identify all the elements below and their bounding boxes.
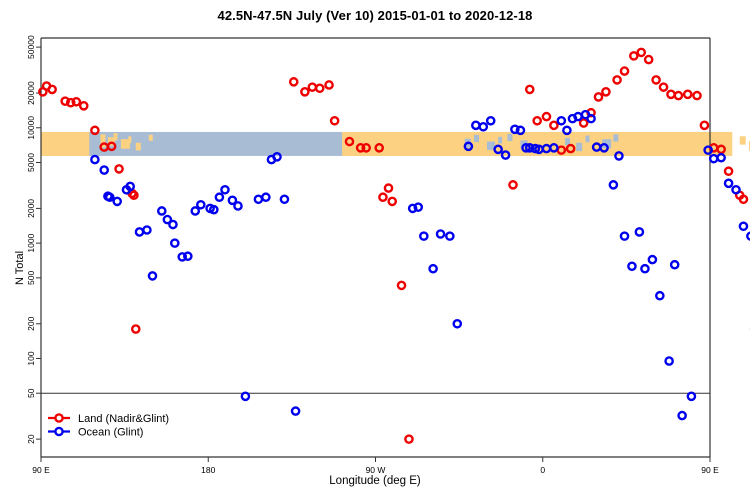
data-point bbox=[91, 127, 98, 134]
band-land-0 bbox=[41, 132, 89, 156]
data-point bbox=[732, 186, 739, 193]
data-point bbox=[234, 202, 241, 209]
band-speckle-10 bbox=[498, 137, 502, 144]
data-point bbox=[197, 201, 204, 208]
y-tick-label-20000: 20000 bbox=[26, 81, 36, 105]
data-point bbox=[595, 93, 602, 100]
data-point bbox=[487, 117, 494, 124]
data-point bbox=[574, 113, 581, 120]
data-point bbox=[472, 122, 479, 129]
data-point bbox=[580, 119, 587, 126]
y-tick-label-2000: 2000 bbox=[26, 199, 36, 218]
data-point bbox=[398, 282, 405, 289]
y-tick-label-1000: 1000 bbox=[26, 233, 36, 252]
y-tick-label-100: 100 bbox=[26, 351, 36, 365]
data-point bbox=[526, 86, 533, 93]
data-point bbox=[171, 240, 178, 247]
data-point bbox=[430, 265, 437, 272]
y-tick-label-50: 50 bbox=[26, 388, 36, 398]
data-point bbox=[645, 56, 652, 63]
data-point bbox=[725, 168, 732, 175]
data-point bbox=[693, 92, 700, 99]
x-tick-label-360: 0 bbox=[540, 465, 545, 475]
data-point bbox=[636, 228, 643, 235]
data-point bbox=[550, 122, 557, 129]
data-point bbox=[509, 181, 516, 188]
data-point bbox=[610, 181, 617, 188]
band-speckle-17 bbox=[613, 134, 618, 141]
band-speckle-4 bbox=[128, 136, 131, 143]
data-point bbox=[563, 127, 570, 134]
y-tick-label-500: 500 bbox=[26, 270, 36, 284]
data-point bbox=[420, 233, 427, 240]
data-point bbox=[216, 194, 223, 201]
y-tick-label-10000: 10000 bbox=[26, 116, 36, 140]
band-speckle-14 bbox=[576, 143, 582, 151]
data-point bbox=[740, 196, 747, 203]
data-point bbox=[114, 198, 121, 205]
series-land bbox=[39, 49, 750, 443]
data-point bbox=[740, 223, 747, 230]
data-point bbox=[446, 233, 453, 240]
legend-marker-1[interactable] bbox=[55, 428, 62, 435]
land-ocean-band bbox=[41, 132, 750, 156]
data-point bbox=[132, 325, 139, 332]
data-point bbox=[316, 85, 323, 92]
y-tick-label-200: 200 bbox=[26, 316, 36, 330]
y-tick-label-5000: 5000 bbox=[26, 153, 36, 172]
data-point bbox=[115, 165, 122, 172]
x-tick-label-270: 90 W bbox=[366, 465, 386, 475]
data-point bbox=[101, 166, 108, 173]
data-point bbox=[630, 52, 637, 59]
data-point bbox=[169, 221, 176, 228]
data-point bbox=[534, 117, 541, 124]
y-tick-label-50000: 50000 bbox=[26, 35, 36, 59]
band-speckle-6 bbox=[149, 135, 153, 141]
data-point bbox=[660, 84, 667, 91]
data-points bbox=[39, 49, 750, 443]
y-tick-label-20: 20 bbox=[26, 434, 36, 444]
data-point bbox=[621, 233, 628, 240]
data-point bbox=[136, 228, 143, 235]
data-point bbox=[221, 186, 228, 193]
band-speckle-15 bbox=[585, 136, 589, 143]
data-point bbox=[725, 180, 732, 187]
band-speckle-18 bbox=[740, 136, 746, 144]
data-point bbox=[649, 256, 656, 263]
data-point bbox=[558, 117, 565, 124]
axis-ticks: 2050100200500100020005000100002000050000… bbox=[26, 35, 750, 475]
data-point bbox=[143, 226, 150, 233]
data-point bbox=[543, 113, 550, 120]
data-point bbox=[602, 88, 609, 95]
chart-figure: 42.5N-47.5N July (Ver 10) 2015-01-01 to … bbox=[0, 0, 750, 500]
data-point bbox=[242, 393, 249, 400]
data-point bbox=[281, 196, 288, 203]
data-point bbox=[405, 436, 412, 443]
data-point bbox=[667, 91, 674, 98]
band-speckle-8 bbox=[474, 135, 479, 142]
data-point bbox=[437, 230, 444, 237]
data-point bbox=[656, 292, 663, 299]
data-point bbox=[389, 198, 396, 205]
data-point bbox=[701, 122, 708, 129]
x-tick-label-450: 90 E bbox=[701, 465, 719, 475]
legend-marker-0[interactable] bbox=[55, 414, 62, 421]
data-point bbox=[127, 183, 134, 190]
data-point bbox=[718, 154, 725, 161]
data-point bbox=[73, 98, 80, 105]
x-tick-label-90: 90 E bbox=[32, 465, 50, 475]
data-point bbox=[106, 194, 113, 201]
data-point bbox=[415, 204, 422, 211]
data-point bbox=[158, 207, 165, 214]
data-point bbox=[273, 153, 280, 160]
band-speckle-11 bbox=[507, 134, 512, 141]
data-point bbox=[675, 92, 682, 99]
data-point bbox=[49, 86, 56, 93]
chart-legend[interactable]: Land (Nadir&Glint)Ocean (Glint) bbox=[48, 413, 169, 439]
data-point bbox=[621, 67, 628, 74]
band-speckle-2 bbox=[113, 133, 117, 140]
band-speckle-5 bbox=[136, 143, 141, 151]
data-point bbox=[613, 76, 620, 83]
data-point bbox=[480, 123, 487, 130]
data-point bbox=[710, 155, 717, 162]
data-point bbox=[688, 393, 695, 400]
data-point bbox=[679, 412, 686, 419]
data-point bbox=[671, 261, 678, 268]
data-point bbox=[331, 117, 338, 124]
data-point bbox=[641, 265, 648, 272]
data-point bbox=[91, 156, 98, 163]
data-point bbox=[325, 81, 332, 88]
data-point bbox=[517, 127, 524, 134]
data-point bbox=[149, 272, 156, 279]
data-point bbox=[385, 184, 392, 191]
data-point bbox=[587, 115, 594, 122]
data-point bbox=[80, 102, 87, 109]
data-point bbox=[309, 84, 316, 91]
data-point bbox=[184, 253, 191, 260]
data-point bbox=[628, 263, 635, 270]
data-point bbox=[653, 76, 660, 83]
data-point bbox=[255, 196, 262, 203]
x-tick-label-180: 180 bbox=[201, 465, 215, 475]
data-point bbox=[684, 91, 691, 98]
plot-frame bbox=[41, 38, 710, 457]
series-ocean bbox=[91, 111, 750, 419]
legend-label-0[interactable]: Land (Nadir&Glint) bbox=[78, 413, 169, 425]
data-point bbox=[262, 194, 269, 201]
data-point bbox=[292, 407, 299, 414]
data-point bbox=[301, 88, 308, 95]
data-point bbox=[666, 357, 673, 364]
legend-label-1[interactable]: Ocean (Glint) bbox=[78, 427, 143, 439]
data-point bbox=[454, 320, 461, 327]
data-point bbox=[290, 78, 297, 85]
data-point bbox=[638, 49, 645, 56]
data-point bbox=[379, 194, 386, 201]
scatter-plot: 2050100200500100020005000100002000050000… bbox=[0, 0, 750, 500]
